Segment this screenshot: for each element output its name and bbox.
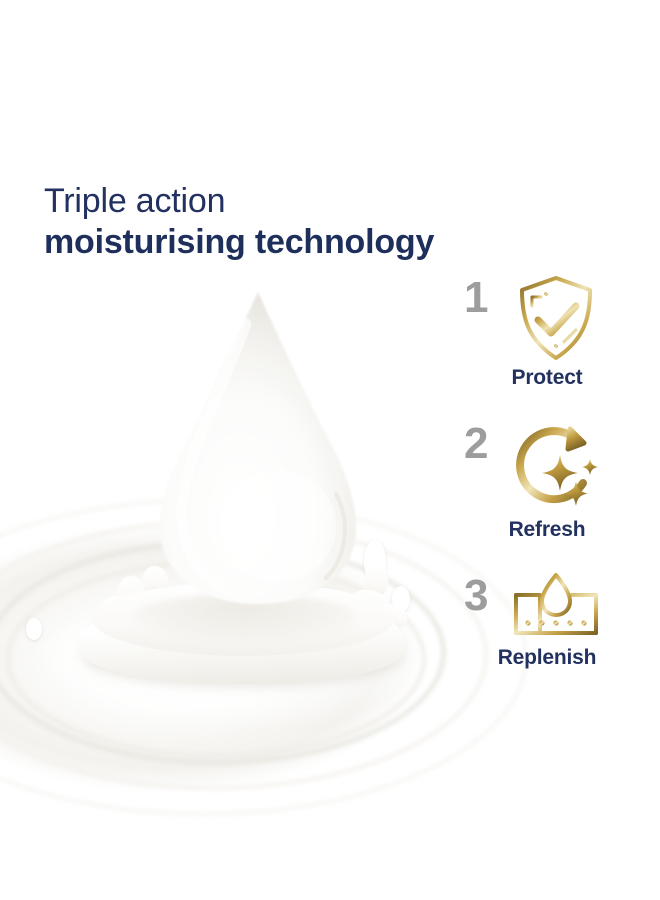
headline-line-2: moisturising technology (44, 222, 514, 262)
page-title: Triple action moisturising technology (44, 181, 514, 261)
benefit-item-replenish: 3 (462, 570, 632, 670)
benefit-item-refresh: 2 (462, 418, 632, 542)
benefit-number: 2 (464, 422, 487, 466)
benefit-label: Protect (462, 366, 632, 390)
refresh-sparkle-icon (510, 421, 602, 513)
benefit-icon-row: 3 (462, 570, 632, 644)
skin-layer-droplet-icon (510, 561, 602, 653)
skin-dot (567, 620, 572, 625)
skin-dot (539, 620, 544, 625)
milk-fleck (26, 618, 42, 640)
skin-dot (581, 620, 586, 625)
shield-corner-accent (532, 297, 541, 306)
benefit-label: Refresh (462, 518, 632, 542)
skin-dot (525, 620, 530, 625)
check-mark (538, 306, 576, 333)
shield-check-icon (510, 272, 602, 364)
benefit-icon-row: 1 (462, 272, 632, 364)
product-feature-panel: Triple action moisturising technology 1 (0, 0, 660, 900)
skin-dot (553, 620, 558, 625)
sparkle-large (542, 455, 578, 491)
shield-dot-accent (544, 292, 548, 296)
benefit-number: 3 (464, 574, 487, 618)
droplet-outline (542, 575, 570, 615)
droplet-shape (150, 288, 366, 608)
benefit-number: 1 (464, 276, 487, 320)
milk-droplet (150, 288, 366, 608)
droplet-core-highlight (220, 470, 336, 582)
headline-line-1: Triple action (44, 181, 514, 221)
benefit-icon-row: 2 (462, 418, 632, 516)
refresh-arrow-head (568, 429, 584, 449)
shield-dot-accent-2 (554, 344, 558, 348)
sparkle-small (582, 459, 598, 475)
benefit-list: 1 (462, 272, 632, 698)
benefit-item-protect: 1 (462, 272, 632, 390)
